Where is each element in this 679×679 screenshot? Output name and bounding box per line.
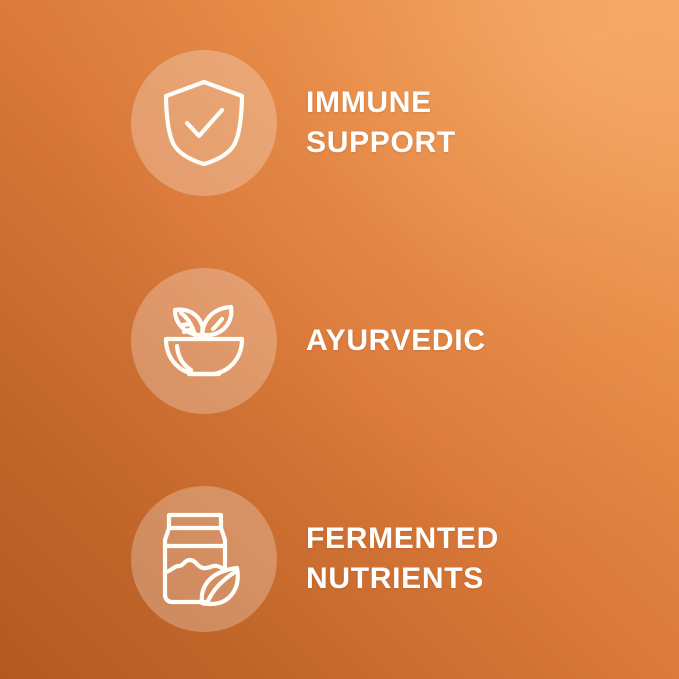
- icon-badge-immune-support: [131, 50, 277, 196]
- shield-check-icon: [162, 79, 246, 167]
- fermentation-jar-leaf-icon: [159, 511, 249, 607]
- feature-label: FERMENTED NUTRIENTS: [306, 519, 499, 598]
- icon-badge-fermented-nutrients: [131, 486, 277, 632]
- feature-row: AYURVEDIC: [131, 268, 486, 414]
- feature-label: IMMUNE SUPPORT: [306, 83, 456, 162]
- mortar-bowl-leaves-icon: [158, 295, 250, 387]
- feature-list: IMMUNE SUPPORT: [0, 0, 679, 679]
- feature-label: AYURVEDIC: [306, 321, 486, 361]
- icon-badge-ayurvedic: [131, 268, 277, 414]
- feature-row: IMMUNE SUPPORT: [131, 50, 456, 196]
- feature-row: FERMENTED NUTRIENTS: [131, 486, 499, 632]
- feature-benefits-poster: IMMUNE SUPPORT: [0, 0, 679, 679]
